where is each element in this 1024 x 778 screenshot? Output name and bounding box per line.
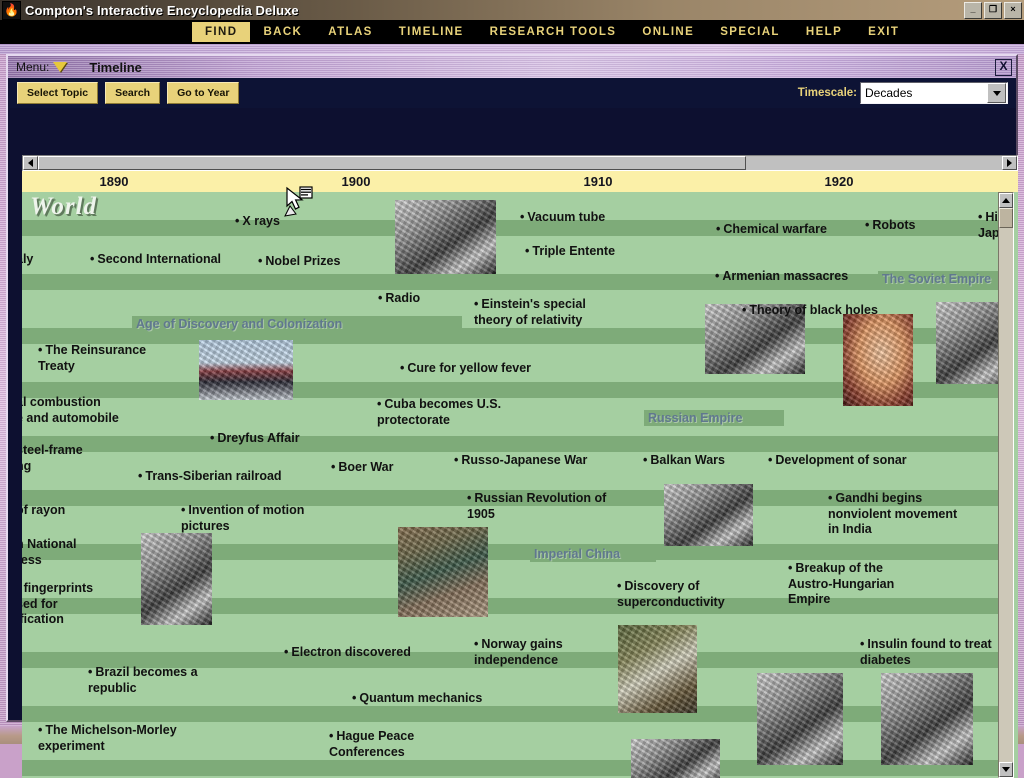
timeline-entry[interactable]: •Invention of motion pictures <box>181 503 304 534</box>
timeline-entry-label: Electron discovered <box>291 645 411 659</box>
timeline-entry[interactable]: •Breakup of the Austro-Hungarian Empire <box>788 561 894 608</box>
era-label[interactable]: Russian Empire <box>648 410 742 426</box>
timeline-entry-label: Einstein's special theory of relativity <box>474 297 586 327</box>
close-button[interactable]: × <box>1004 2 1022 19</box>
horizontal-scroll-track[interactable] <box>38 156 1002 170</box>
timeline-panel: Menu: Timeline X Select TopicSearchGo to… <box>6 54 1018 722</box>
timeline-entry-label: Russian Revolution of 1905 <box>467 491 606 521</box>
bullet-icon: • <box>210 431 214 445</box>
decorative-strip <box>0 44 1024 54</box>
timeline-entry-label: Triple Entente <box>532 244 615 258</box>
timeline-entry[interactable]: •Insulin found to treat diabetes <box>860 637 992 668</box>
timeline-entry-label: Development of sonar <box>775 453 906 467</box>
titanic-ship-photo[interactable] <box>664 484 753 546</box>
timeline-entry-label: Brazil becomes a republic <box>88 665 198 695</box>
bullet-icon: • <box>525 244 529 258</box>
bullet-icon: • <box>520 210 524 224</box>
timeline-stripe <box>22 436 1000 452</box>
timeline-entry-label: Invention of motion pictures <box>181 503 304 533</box>
timeline-entry[interactable]: al combustion e and automobile <box>22 395 119 426</box>
era-label[interactable]: Imperial China <box>534 546 620 562</box>
thumbnail-texture <box>843 314 913 406</box>
scroll-up-button[interactable] <box>999 193 1013 208</box>
window-controls: _ ❐ × <box>964 2 1022 19</box>
vertical-scroll-thumb[interactable] <box>999 208 1013 228</box>
timeline-stripe <box>22 274 1000 290</box>
era-label[interactable]: Age of Discovery and Colonization <box>136 316 342 332</box>
timeline-entry[interactable]: •The Reinsurance Treaty <box>38 343 146 374</box>
bullet-icon: • <box>860 637 864 651</box>
nav-item-help[interactable]: HELP <box>793 22 855 42</box>
main-navigation-bar: FINDBACKATLASTIMELINERESEARCH TOOLSONLIN… <box>0 20 1024 44</box>
thumbnail-texture <box>881 673 973 765</box>
window-title: Compton's Interactive Encyclopedia Delux… <box>25 3 299 18</box>
man-with-rifle-photo[interactable] <box>936 302 1000 384</box>
timeline-entry[interactable]: •Vacuum tube <box>520 210 605 226</box>
timeline-entry-label: The Michelson-Morley experiment <box>38 723 177 753</box>
nav-item-special[interactable]: SPECIAL <box>707 22 793 42</box>
timeline-stripe <box>22 706 1000 722</box>
bullet-icon: • <box>400 361 404 375</box>
thumbnail-texture <box>664 484 753 546</box>
chevron-down-icon[interactable] <box>987 83 1006 103</box>
timescale-select[interactable]: Decades <box>860 82 1008 104</box>
timeline-entry[interactable]: •Brazil becomes a republic <box>88 665 198 696</box>
timeline-entry-label: Gandhi begins nonviolent movement in Ind… <box>828 491 957 536</box>
bullet-icon: • <box>181 503 185 517</box>
nav-items: FINDBACKATLASTIMELINERESEARCH TOOLSONLIN… <box>192 22 912 42</box>
bullet-icon: • <box>467 491 471 505</box>
minimize-button[interactable]: _ <box>964 2 982 19</box>
bullet-icon: • <box>454 453 458 467</box>
timeline-entry-label: Chemical warfare <box>723 222 827 236</box>
timeline-stripe <box>22 220 1000 236</box>
scroll-down-button[interactable] <box>999 762 1013 777</box>
timeline-entry-label: X rays <box>242 214 280 228</box>
timeline-entry[interactable]: •Cure for yellow fever <box>400 361 531 377</box>
bullet-icon: • <box>788 561 792 575</box>
timeline-entry[interactable]: •Hague Peace Conferences <box>329 729 414 760</box>
bullet-icon: • <box>138 469 142 483</box>
year-tick-1910: 1910 <box>584 174 613 189</box>
timeline-canvas[interactable]: Age of Discovery and ColonizationThe Sov… <box>22 192 1000 778</box>
bullet-icon: • <box>38 723 42 737</box>
bullet-icon: • <box>865 218 869 232</box>
bullet-icon: • <box>88 665 92 679</box>
timeline-entry[interactable]: steel-frame ng <box>22 443 83 474</box>
timeline-entry[interactable]: •Hir Jap <box>978 210 1000 241</box>
ocean-scene-art[interactable] <box>199 340 293 400</box>
timeline-entry[interactable]: •Development of sonar <box>768 453 907 469</box>
timeline-entry-label: Norway gains independence <box>474 637 563 667</box>
bullet-icon: • <box>978 210 982 224</box>
title-bar: 🔥 Compton's Interactive Encyclopedia Del… <box>0 0 1024 20</box>
toolbar-buttons: Select TopicSearchGo to Year <box>10 82 239 104</box>
timeline-entry[interactable]: •Discovery of superconductivity <box>617 579 725 610</box>
bullet-icon: • <box>377 397 381 411</box>
bullet-icon: • <box>643 453 647 467</box>
timeline-entry-label: Russo-Japanese War <box>461 453 587 467</box>
timeline-entry-label: Robots <box>872 218 915 232</box>
bullet-icon: • <box>258 254 262 268</box>
timeline-entry[interactable]: •Robots <box>865 218 915 234</box>
timeline-entry[interactable]: •The Michelson-Morley experiment <box>38 723 177 754</box>
bullet-icon: • <box>235 214 239 228</box>
timeline-entry[interactable]: •Russian Revolution of 1905 <box>467 491 606 522</box>
timeline-entry[interactable]: •Gandhi begins nonviolent movement in In… <box>828 491 957 538</box>
thumbnail-texture <box>395 200 496 274</box>
thumbnail-texture <box>936 302 1000 384</box>
timeline-entry[interactable]: •Balkan Wars <box>643 453 725 469</box>
scroll-right-button[interactable] <box>1002 156 1017 170</box>
timeline-entry[interactable]: •Trans-Siberian railroad <box>138 469 282 485</box>
bullet-icon: • <box>715 269 719 283</box>
scroll-left-button[interactable] <box>23 156 38 170</box>
bullet-icon: • <box>38 343 42 357</box>
panel-header: Menu: Timeline X <box>8 56 1016 78</box>
page-title: Timeline <box>89 60 142 75</box>
menu-label: Menu: <box>16 60 49 74</box>
timeline-canvas-frame: Age of Discovery and ColonizationThe Sov… <box>22 192 1018 778</box>
timescale-value: Decades <box>861 86 987 100</box>
restore-button[interactable]: ❐ <box>984 2 1002 19</box>
year-tick-1920: 1920 <box>825 174 854 189</box>
newspaper-vendor-photo[interactable] <box>141 533 212 625</box>
timeline-entry[interactable]: aly <box>22 252 33 268</box>
torch-icon: 🔥 <box>2 1 21 20</box>
bullet-icon: • <box>378 291 382 305</box>
wright-flyer-photo[interactable] <box>395 200 496 274</box>
timeline-entry[interactable]: •Russo-Japanese War <box>454 453 587 469</box>
timeline-entry[interactable]: •Armenian massacres <box>715 269 848 285</box>
timeline-entry-label: Cuba becomes U.S. protectorate <box>377 397 501 427</box>
bullet-icon: • <box>284 645 288 659</box>
timeline-entry[interactable]: •Chemical warfare <box>716 222 827 238</box>
go-to-year-button[interactable]: Go to Year <box>167 82 239 104</box>
timeline-stripe <box>22 760 1000 776</box>
timeline-entry[interactable]: •Second International <box>90 252 221 268</box>
nav-item-back[interactable]: BACK <box>250 22 315 42</box>
thumbnail-texture <box>199 340 293 400</box>
timeline-entry[interactable]: •Dreyfus Affair <box>210 431 300 447</box>
timeline-entry-label: Theory of black holes <box>749 303 878 317</box>
timeline-entry[interactable]: •Radio <box>378 291 420 307</box>
bullet-icon: • <box>474 637 478 651</box>
bullet-icon: • <box>742 303 746 317</box>
timeline-entry[interactable]: •Triple Entente <box>525 244 615 260</box>
timeline-entry-label: Balkan Wars <box>650 453 725 467</box>
thumbnail-texture <box>398 527 488 617</box>
timeline-entry[interactable]: •Einstein's special theory of relativity <box>474 297 586 328</box>
thumbnail-texture <box>141 533 212 625</box>
panel-close-button[interactable]: X <box>995 59 1012 76</box>
application-window: 🔥 Compton's Interactive Encyclopedia Del… <box>0 0 1024 728</box>
vertical-scrollbar[interactable] <box>998 192 1014 778</box>
timeline-entry-label: Armenian massacres <box>722 269 848 283</box>
era-label[interactable]: The Soviet Empire <box>882 271 991 287</box>
nav-item-exit[interactable]: EXIT <box>855 22 912 42</box>
bullet-icon: • <box>617 579 621 593</box>
search-button[interactable]: Search <box>105 82 160 104</box>
panama-canal-photo[interactable] <box>398 527 488 617</box>
year-ruler: 1890190019101920 <box>22 171 1018 192</box>
stalin-portrait-photo[interactable] <box>881 673 973 765</box>
timeline-entry[interactable]: •Quantum mechanics <box>352 691 482 707</box>
bullet-icon: • <box>768 453 772 467</box>
timeline-entry-label: Quantum mechanics <box>359 691 482 705</box>
horizontal-scroll-thumb[interactable] <box>38 156 746 170</box>
timeline-entry-label: Vacuum tube <box>527 210 605 224</box>
assembly-photo[interactable] <box>631 739 720 778</box>
bullet-icon: • <box>329 729 333 743</box>
timeline-entry-label: Discovery of superconductivity <box>617 579 725 609</box>
treaty-signing-photo[interactable] <box>757 673 843 765</box>
nav-item-atlas[interactable]: ATLAS <box>315 22 385 42</box>
thumbnail-texture <box>757 673 843 765</box>
timeline-entry-label: The Reinsurance Treaty <box>38 343 146 373</box>
timeline-entry[interactable]: •Theory of black holes <box>742 303 878 319</box>
year-tick-1890: 1890 <box>100 174 129 189</box>
timescale-label: Timescale: <box>798 87 857 99</box>
horizontal-scrollbar[interactable] <box>22 155 1018 171</box>
thumbnail-texture <box>618 625 697 713</box>
nav-item-find[interactable]: FIND <box>192 22 250 42</box>
select-topic-button[interactable]: Select Topic <box>17 82 98 104</box>
timeline-entry[interactable]: •Boer War <box>331 460 394 476</box>
bullet-icon: • <box>331 460 335 474</box>
timeline-entry[interactable]: •Norway gains independence <box>474 637 563 668</box>
timeline-entry-label: Trans-Siberian railroad <box>145 469 281 483</box>
florist-photo[interactable] <box>618 625 697 713</box>
bullet-icon: • <box>828 491 832 505</box>
timeline-entry-label: Nobel Prizes <box>265 254 340 268</box>
timeline-entry[interactable]: of rayon <box>22 503 65 519</box>
timeline-entry[interactable]: •X rays <box>235 214 280 230</box>
timeline-entry-label: Cure for yellow fever <box>407 361 531 375</box>
timeline-entry[interactable]: •Nobel Prizes <box>258 254 340 270</box>
timeline-entry-label: Dreyfus Affair <box>217 431 299 445</box>
timeline-entry-label: Radio <box>385 291 420 305</box>
timeline-entry-label: Second International <box>97 252 221 266</box>
carved-bust-photo[interactable] <box>843 314 913 406</box>
timeline-category-heading: World <box>30 193 97 221</box>
timeline-entry[interactable]: •Electron discovered <box>284 645 411 661</box>
timescale-control: Timescale: Decades <box>798 82 1008 104</box>
bullet-icon: • <box>352 691 356 705</box>
nav-item-online[interactable]: ONLINE <box>629 22 707 42</box>
timeline-entry-label: Boer War <box>338 460 393 474</box>
timeline-entry[interactable]: •Cuba becomes U.S. protectorate <box>377 397 501 428</box>
timeline-entry-label: Insulin found to treat diabetes <box>860 637 992 667</box>
year-tick-1900: 1900 <box>342 174 371 189</box>
chevron-down-icon[interactable] <box>53 62 67 72</box>
bullet-icon: • <box>716 222 720 236</box>
bullet-icon: • <box>474 297 478 311</box>
nav-item-research-tools[interactable]: RESEARCH TOOLS <box>477 22 630 42</box>
timeline-entry[interactable]: n National ress <box>22 537 76 568</box>
bullet-icon: • <box>90 252 94 266</box>
timeline-entry[interactable]: f fingerprints sed for ification <box>22 581 93 628</box>
thumbnail-texture <box>631 739 720 778</box>
timeline-toolbar: Select TopicSearchGo to Year Timescale: … <box>10 78 1016 108</box>
timeline-entry-label: Breakup of the Austro-Hungarian Empire <box>788 561 894 606</box>
nav-item-timeline[interactable]: TIMELINE <box>386 22 477 42</box>
